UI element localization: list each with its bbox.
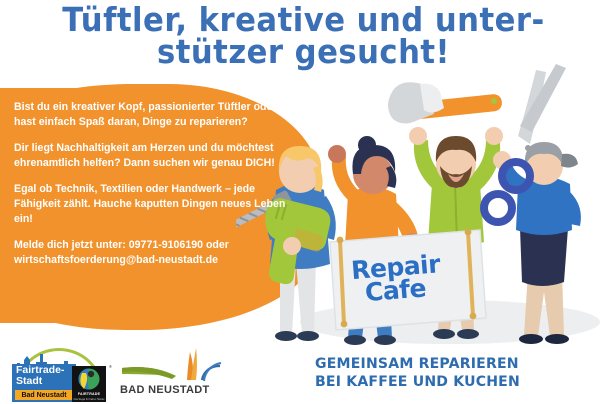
fairtrade-city-label: Bad Neustadt [21,392,66,399]
body-paragraph-contact: Melde dich jetzt unter: 09771-9106190 od… [14,238,286,268]
fairtrade-city-bar: Bad Neustadt [15,390,73,400]
tagline-line-1: GEMEINSAM REPARIEREN [315,356,587,374]
illustration-group: Repair Cafe [236,62,607,354]
body-copy: Bist du ein kreativer Kopf, passionierte… [14,100,286,268]
footer-tagline: GEMEINSAM REPARIEREN BEI KAFFEE UND KUCH… [315,356,595,391]
fairtrade-title: Fairtrade- Stadt [16,365,78,386]
bad-neustadt-logo: BAD NEUSTADT [118,348,222,402]
registered-trademark-symbol: ® [109,364,112,369]
fairtrade-mark-label: FAIRTRADE [72,392,106,396]
poster-canvas: Tüftler, kreative und unter- stützer ges… [0,0,607,404]
fairtrade-title-line-1: Fairtrade- [16,365,78,376]
fairtrade-mark-sublabel: Das Siegel für Fairen Handel [72,398,106,401]
tagline-line-2: BEI KAFFEE UND KUCHEN [315,374,587,392]
hammer-icon [388,82,503,123]
bad-neustadt-wordmark: BAD NEUSTADT [120,384,222,396]
fairtrade-blue-box: Fairtrade- Stadt Bad Neustadt [12,364,76,402]
bad-neustadt-emblem [118,348,222,386]
body-paragraph-3: Egal ob Technik, Textilien oder Handwerk… [14,182,286,227]
fairtrade-certification-mark: FAIRTRADE Das Siegel für Fairen Handel [72,366,106,402]
logo-row: Fairtrade- Stadt Bad Neustadt FAIRTRADE … [0,344,230,404]
headline-line-1: Tüftler, kreative und unter- [21,4,586,36]
body-paragraph-2: Dir liegt Nachhaltigkeit am Herzen und d… [14,141,286,171]
body-paragraph-1: Bist du ein kreativer Kopf, passionierte… [14,100,286,130]
fairtrade-title-line-2: Stadt [16,376,78,387]
fairtrade-stadt-logo: Fairtrade- Stadt Bad Neustadt FAIRTRADE … [10,348,108,402]
page-title: Tüftler, kreative und unter- stützer ges… [0,4,607,67]
